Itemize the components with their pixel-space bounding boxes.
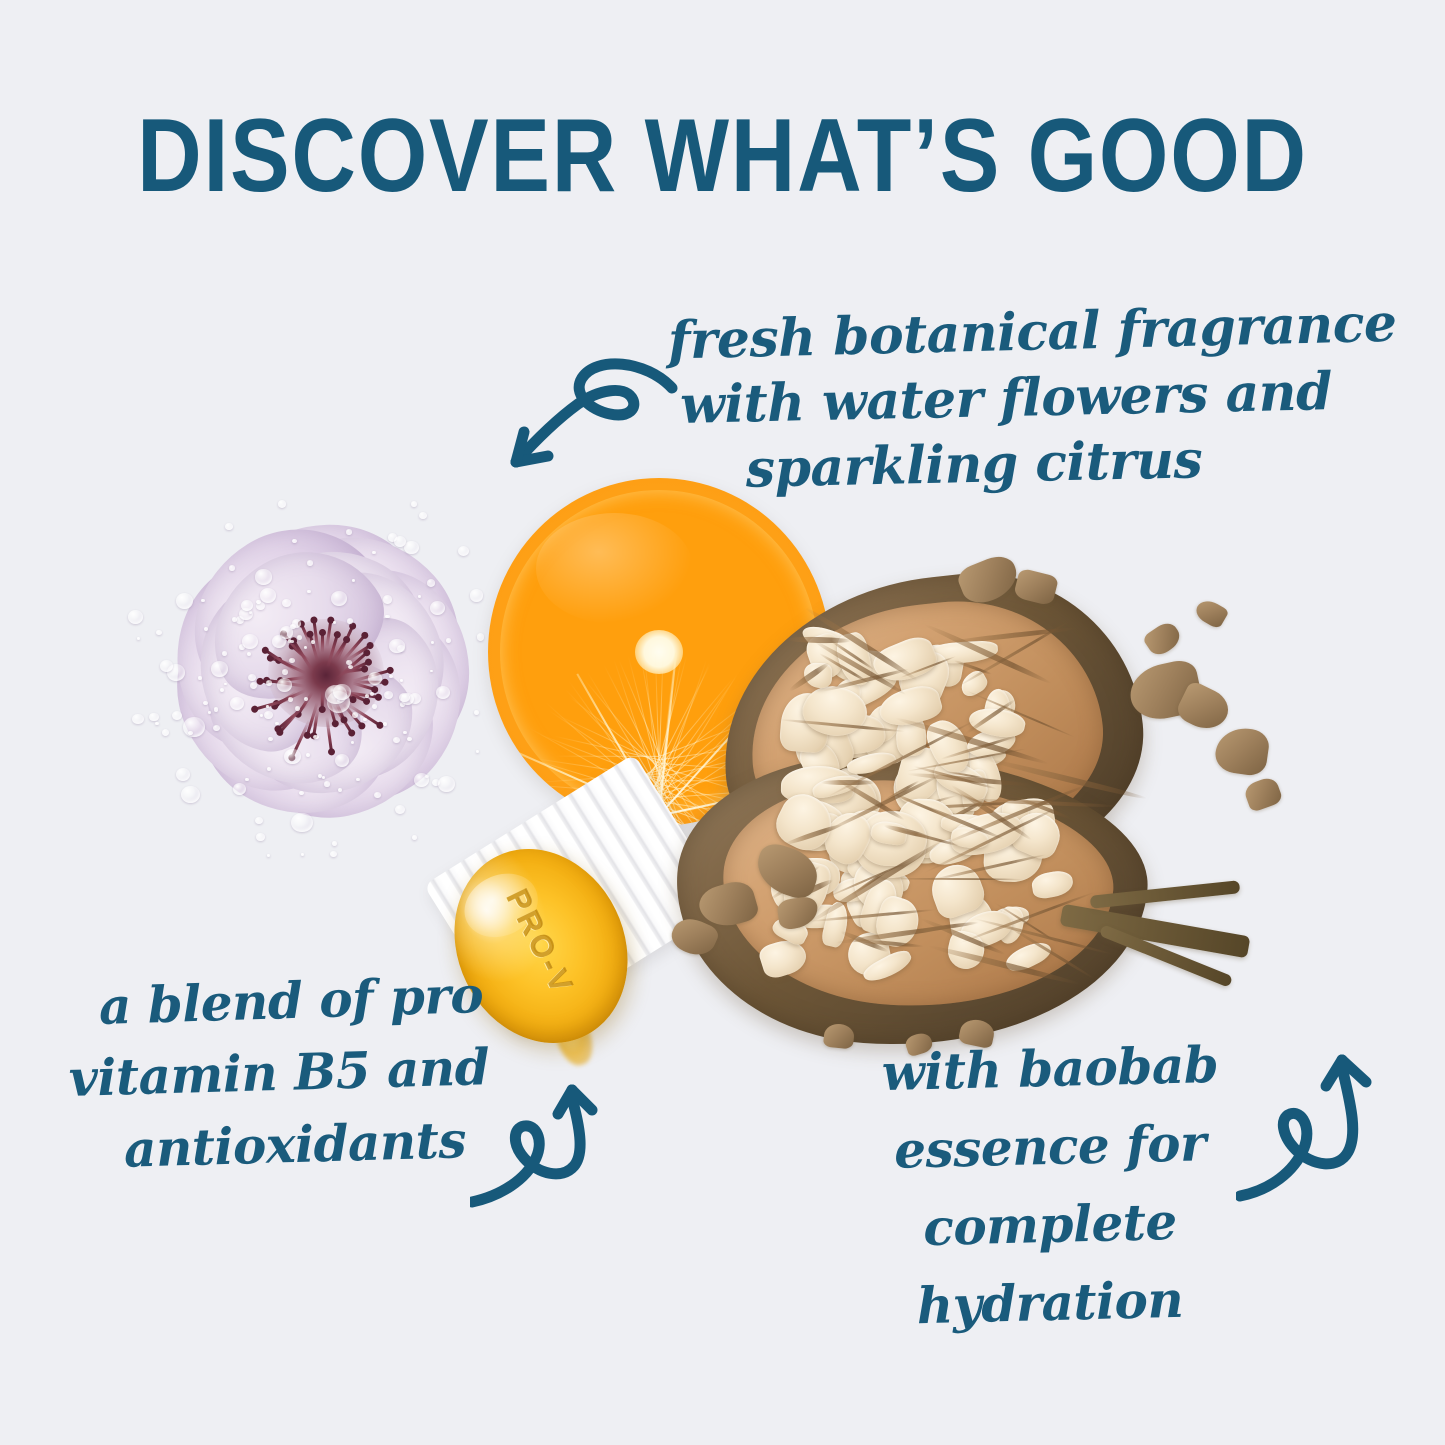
water-droplet bbox=[363, 718, 367, 722]
water-droplet bbox=[346, 529, 352, 535]
water-droplet bbox=[277, 678, 292, 692]
water-droplet bbox=[304, 697, 308, 701]
water-droplet bbox=[288, 639, 292, 642]
water-droplet bbox=[324, 781, 330, 786]
water-droplet bbox=[208, 711, 211, 714]
water-droplet bbox=[411, 501, 417, 507]
baobab-debris-flake bbox=[1193, 596, 1230, 630]
water-droplet bbox=[438, 776, 455, 792]
water-droplet bbox=[330, 851, 337, 857]
water-droplet bbox=[245, 778, 249, 782]
caption-baobab-line-4: hydration bbox=[879, 1260, 1221, 1346]
water-droplet bbox=[383, 722, 387, 726]
water-droplet bbox=[356, 778, 359, 781]
water-droplet bbox=[201, 599, 205, 603]
water-droplet bbox=[404, 541, 418, 554]
water-droplet bbox=[160, 660, 173, 672]
caption-baobab-line-3: complete bbox=[879, 1182, 1221, 1268]
water-droplet bbox=[393, 737, 400, 743]
water-droplet bbox=[399, 693, 409, 703]
caption-baobab-line-2: essence for bbox=[879, 1104, 1221, 1190]
water-droplet bbox=[248, 674, 256, 681]
water-droplet bbox=[268, 737, 273, 741]
water-droplet bbox=[241, 600, 253, 611]
water-droplet bbox=[299, 791, 304, 796]
water-droplet bbox=[137, 637, 141, 640]
caption-baobab-line-1: with baobab bbox=[879, 1026, 1221, 1112]
water-droplet bbox=[347, 618, 353, 624]
water-droplet bbox=[156, 630, 162, 635]
water-droplet bbox=[477, 633, 485, 640]
water-droplet bbox=[183, 717, 204, 737]
water-droplet bbox=[418, 595, 421, 598]
caption-baobab: with baobab essence for complete hydrati… bbox=[880, 1030, 1220, 1342]
water-droplet bbox=[407, 737, 412, 742]
water-droplet bbox=[474, 710, 480, 715]
water-droplet bbox=[284, 749, 301, 764]
baobab-debris-flake bbox=[1242, 775, 1284, 813]
water-droplet bbox=[132, 714, 143, 724]
water-droplet bbox=[220, 688, 224, 692]
caption-fragrance: fresh botanical fragrance with water flo… bbox=[660, 300, 1360, 498]
baobab-debris-flake bbox=[1213, 725, 1271, 778]
water-droplet bbox=[470, 589, 484, 601]
flower-stamen bbox=[321, 633, 324, 653]
water-droplet bbox=[292, 539, 297, 544]
page-title: DISCOVER WHAT’S GOOD bbox=[101, 104, 1344, 208]
water-droplet bbox=[267, 854, 270, 857]
caption-fragrance-line-3: sparkling citrus bbox=[623, 425, 1324, 506]
water-droplet bbox=[280, 626, 294, 639]
water-droplet bbox=[232, 617, 237, 622]
flower-stamen bbox=[321, 689, 324, 709]
infographic-canvas: DISCOVER WHAT’S GOOD PRO-V fresh botanic… bbox=[0, 0, 1445, 1445]
water-droplet bbox=[370, 692, 374, 696]
water-droplet bbox=[301, 853, 304, 856]
water-droplet bbox=[233, 783, 246, 795]
water-droplet bbox=[255, 569, 272, 584]
water-droplet bbox=[458, 546, 469, 556]
water-droplet bbox=[255, 817, 263, 825]
water-droplet bbox=[346, 660, 351, 665]
water-droplet bbox=[476, 750, 479, 753]
water-droplet bbox=[198, 676, 202, 679]
water-droplet bbox=[230, 697, 244, 710]
water-droplet bbox=[162, 729, 169, 736]
water-droplet bbox=[278, 500, 286, 507]
water-droplet bbox=[256, 833, 264, 841]
water-droplet bbox=[176, 768, 190, 781]
water-droplet bbox=[436, 686, 450, 699]
water-droplet bbox=[181, 786, 199, 803]
water-droplet bbox=[260, 714, 263, 717]
curved-loop-arrow-up-baobab-icon bbox=[1236, 1046, 1396, 1216]
water-droplet bbox=[306, 753, 310, 757]
water-droplet bbox=[214, 707, 219, 711]
baobab-debris-flake bbox=[1142, 619, 1185, 660]
water-droplet bbox=[267, 767, 271, 771]
water-droplet bbox=[332, 841, 337, 846]
water-droplet bbox=[372, 551, 376, 554]
caption-provitamin-line-3: antioxidants bbox=[69, 1103, 521, 1188]
water-droplet bbox=[419, 512, 426, 519]
water-droplet bbox=[307, 560, 313, 566]
caption-provitamin-line-2: vitamin B5 and bbox=[53, 1031, 505, 1116]
water-droplet bbox=[394, 536, 406, 547]
water-droplet bbox=[304, 646, 307, 649]
water-droplet bbox=[395, 805, 405, 815]
water-droplet bbox=[414, 773, 429, 787]
water-droplet bbox=[225, 523, 232, 530]
water-droplet bbox=[318, 774, 322, 778]
water-droplet bbox=[149, 713, 158, 721]
water-droplet bbox=[188, 731, 192, 735]
water-droplet bbox=[289, 658, 295, 663]
baobab-pods-image bbox=[660, 568, 1280, 1068]
water-droplet bbox=[333, 684, 350, 700]
lavender-flower-image bbox=[126, 468, 518, 874]
water-droplet bbox=[372, 704, 377, 709]
water-droplet bbox=[128, 610, 143, 623]
water-droplet bbox=[297, 635, 303, 640]
water-droplet bbox=[348, 665, 352, 669]
caption-provitamin-b5: a blend of pro vitamin B5 and antioxidan… bbox=[60, 965, 510, 1181]
water-droplet bbox=[155, 722, 159, 726]
water-droplet bbox=[384, 691, 393, 699]
water-droplet bbox=[172, 711, 182, 720]
curved-loop-arrow-down-left-icon bbox=[486, 352, 686, 492]
water-droplet bbox=[260, 588, 276, 603]
curved-loop-arrow-up-provitamin-icon bbox=[470, 1080, 620, 1230]
water-droplet bbox=[282, 599, 291, 607]
water-droplet bbox=[313, 735, 318, 740]
water-droplet bbox=[446, 638, 451, 643]
water-droplet bbox=[211, 661, 228, 677]
caption-provitamin-line-1: a blend of pro bbox=[65, 958, 517, 1044]
water-droplet bbox=[412, 835, 417, 840]
water-droplet bbox=[368, 672, 382, 685]
water-droplet bbox=[291, 813, 312, 833]
